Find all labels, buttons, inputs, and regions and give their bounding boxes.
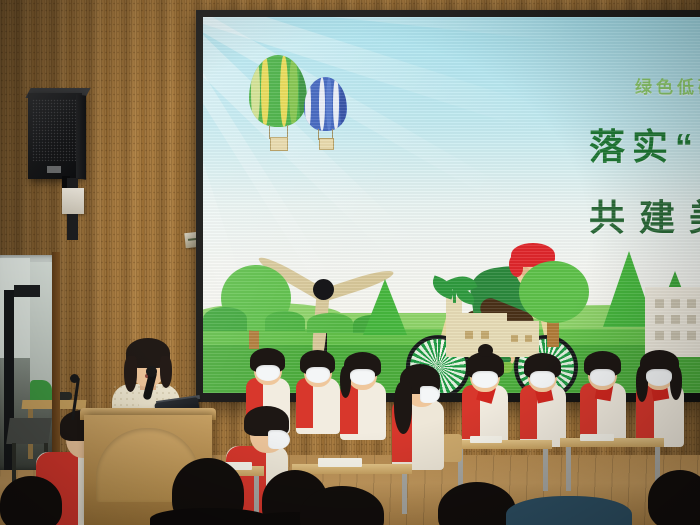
desk-paper	[580, 434, 614, 441]
desk-paper	[318, 458, 362, 467]
student-desk	[452, 440, 552, 449]
student-chair	[442, 434, 462, 462]
doorway-glass-panel-2	[30, 262, 52, 392]
screenshot-root: 绿色低碳 节能先行 落实“双碳”行动 共建美丽家园 ——6.15全国低碳日	[0, 0, 700, 525]
desk-paper	[470, 436, 502, 443]
desk-leg	[543, 449, 548, 491]
presenter-hair-side-right	[160, 356, 172, 388]
foreground-shoulder-blue	[506, 496, 632, 525]
handheld-microphone-head	[146, 366, 157, 377]
desk-leg	[402, 474, 407, 514]
doorway-dark-bar	[14, 285, 40, 297]
wall-plate-lower-bar	[67, 214, 78, 240]
wall-panel-plate	[62, 188, 84, 214]
presenter-hair-side-left	[124, 356, 137, 392]
desk-leg	[566, 447, 571, 491]
screen-glare	[203, 17, 700, 393]
foreground-head-silhouette	[0, 476, 62, 525]
wind-turbine-hub	[313, 279, 334, 300]
speaker-badge	[47, 166, 61, 173]
speaker-side-face	[76, 94, 86, 179]
speaker-grille	[32, 99, 76, 161]
doorway-chair	[6, 418, 52, 444]
doorway-frame	[52, 252, 60, 472]
projection-screen: 绿色低碳 节能先行 落实“双碳”行动 共建美丽家园 ——6.15全国低碳日	[203, 17, 700, 393]
